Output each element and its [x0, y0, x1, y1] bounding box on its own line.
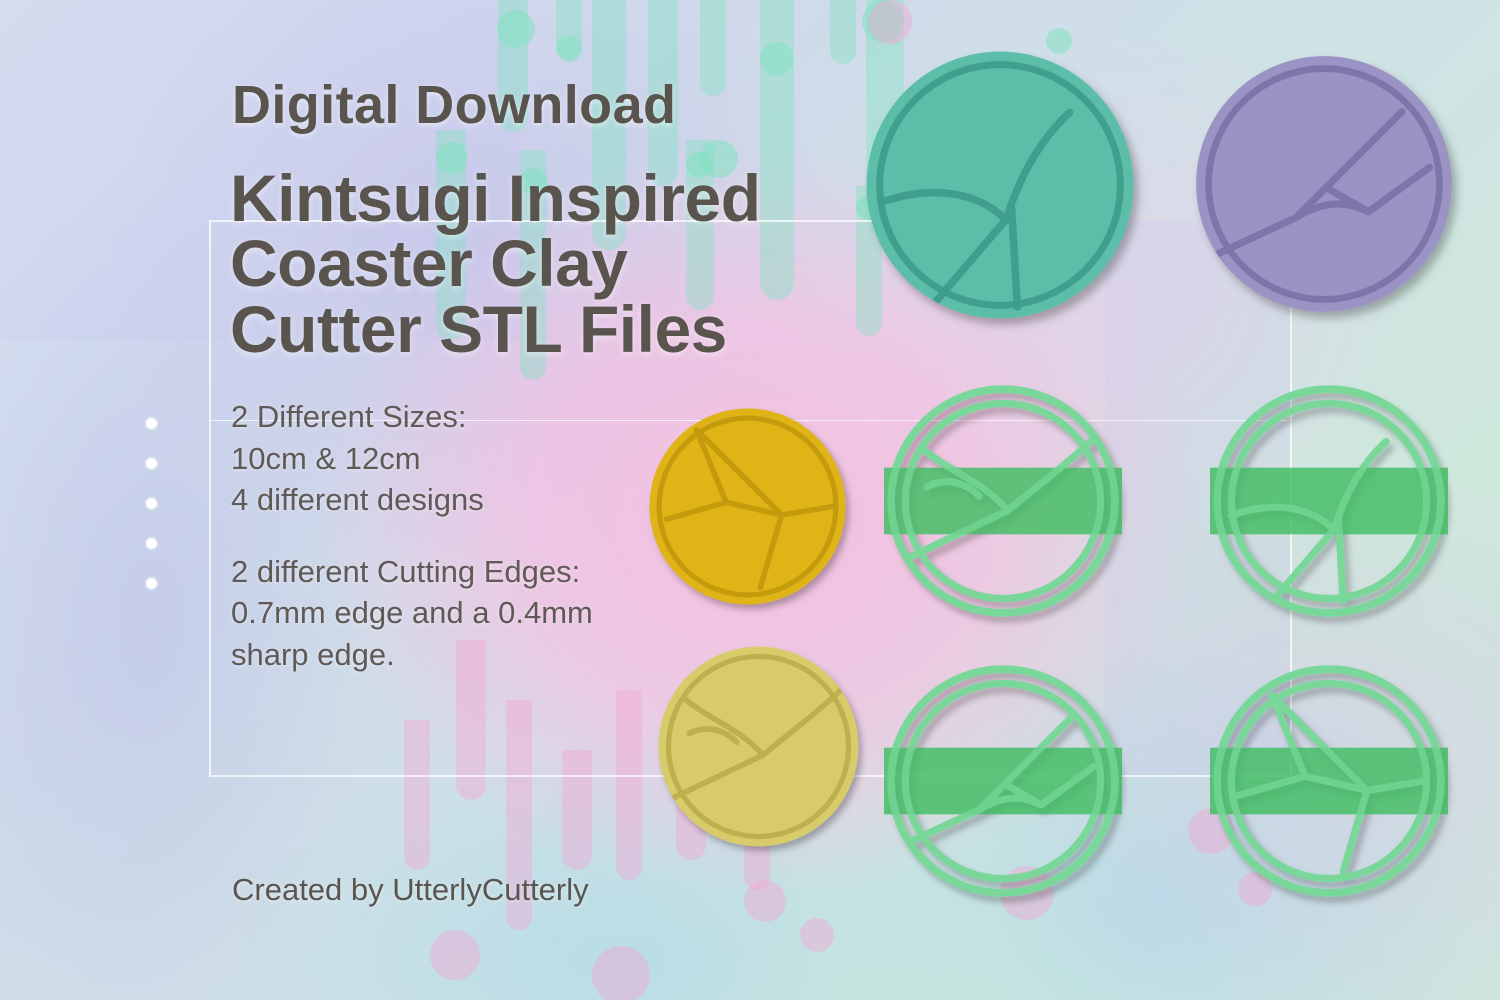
product-graphic: Digital Download Kintsugi Inspired Coast…: [0, 0, 1500, 1000]
mint-drip-bar: [700, 0, 726, 96]
creator-credit: Created by UtterlyCutterly: [232, 872, 589, 908]
cutter-green-bottom-right: [1210, 662, 1448, 900]
frame-left-edge: [209, 220, 211, 775]
pink-circle: [744, 880, 786, 922]
mint-circle: [760, 42, 794, 76]
pink-drip-bar: [562, 750, 592, 870]
edges-heading: 2 different Cutting Edges:: [231, 551, 751, 593]
pink-circle: [868, 0, 912, 44]
mint-circle: [556, 36, 582, 62]
mint-circle: [497, 10, 535, 48]
title-line-1: Kintsugi Inspired: [230, 166, 950, 231]
edges-line-2: sharp edge.: [231, 634, 751, 676]
cutter-green-top-right: [1210, 382, 1448, 620]
pink-circle: [800, 918, 834, 952]
eyebrow-label: Digital Download: [232, 74, 676, 136]
sizes-heading: 2 Different Sizes:: [231, 396, 751, 438]
mint-drip-bar: [830, 0, 856, 64]
pink-drip-bar: [616, 690, 642, 880]
bullet-dot: [146, 458, 157, 469]
bullet-dot: [146, 538, 157, 549]
title-line-2: Coaster Clay: [230, 231, 950, 296]
page-title: Kintsugi Inspired Coaster Clay Cutter ST…: [230, 166, 950, 362]
cutter-green-bottom-left: [884, 662, 1122, 900]
bullet-dot: [146, 578, 157, 589]
pink-circle: [592, 946, 650, 1000]
sizes-value: 10cm & 12cm: [231, 438, 751, 480]
coaster-purple: [1185, 45, 1463, 323]
bullet-dot: [146, 418, 157, 429]
title-line-3: Cutter STL Files: [230, 297, 950, 362]
feature-list: 2 Different Sizes: 10cm & 12cm 4 differe…: [231, 396, 751, 675]
pink-circle: [430, 930, 480, 980]
cutter-green-top-left: [884, 382, 1122, 620]
designs-value: 4 different designs: [231, 479, 751, 521]
pink-drip-bar: [404, 720, 430, 870]
edges-line-1: 0.7mm edge and a 0.4mm: [231, 592, 751, 634]
bullet-dot: [146, 498, 157, 509]
feature-spacer: [231, 521, 751, 551]
